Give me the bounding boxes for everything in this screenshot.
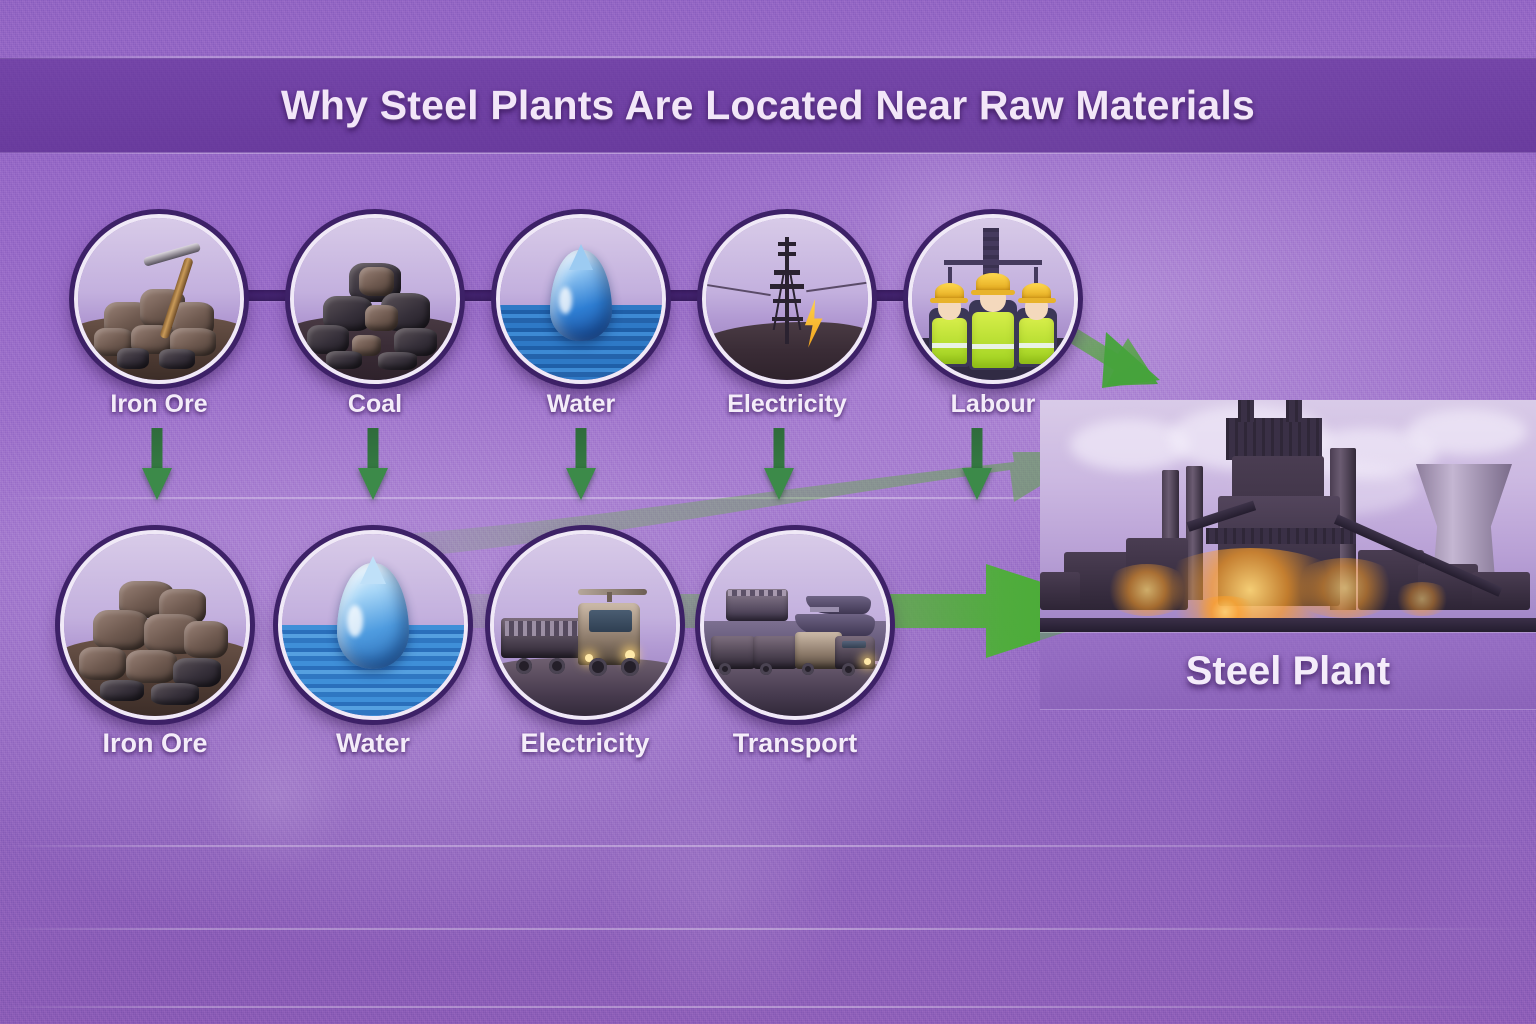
- node-label: Labour: [951, 390, 1036, 419]
- steel-plant-label-band: Steel Plant: [1040, 632, 1536, 710]
- down-arrow-labour: [962, 428, 992, 500]
- node-water-top[interactable]: Water: [496, 214, 666, 384]
- node-iron-ore-top[interactable]: Iron Ore: [74, 214, 244, 384]
- title-banner: Why Steel Plants Are Located Near Raw Ma…: [0, 58, 1536, 153]
- node-label: Water: [547, 390, 616, 419]
- node-label: Water: [336, 728, 410, 759]
- node-label: Iron Ore: [110, 390, 207, 419]
- destination-label: Steel Plant: [1186, 649, 1391, 694]
- node-electricity-top[interactable]: Electricity: [702, 214, 872, 384]
- rock-pile-icon: [60, 530, 250, 720]
- node-transport-bottom[interactable]: Transport: [700, 530, 890, 720]
- node-labour-top[interactable]: Labour: [908, 214, 1078, 384]
- infographic-canvas: Why Steel Plants Are Located Near Raw Ma…: [0, 0, 1536, 1024]
- rocks-with-pickaxe-icon: [74, 214, 244, 384]
- steel-factory-icon: [1040, 400, 1536, 632]
- water-drop-icon: [278, 530, 468, 720]
- node-coal-top[interactable]: Coal: [290, 214, 460, 384]
- down-arrow-water: [566, 428, 596, 500]
- workers-hardhats-icon: [908, 214, 1078, 384]
- power-pylon-lightning-icon: [702, 214, 872, 384]
- node-electricity-bottom[interactable]: Electricity: [490, 530, 680, 720]
- node-label: Electricity: [520, 728, 649, 759]
- node-label: Iron Ore: [102, 728, 207, 759]
- node-label: Electricity: [727, 390, 847, 419]
- freight-truck-icon: [490, 530, 680, 720]
- node-label: Transport: [733, 728, 858, 759]
- down-arrow-electricity: [764, 428, 794, 500]
- coal-heap-icon: [290, 214, 460, 384]
- water-drop-icon: [496, 214, 666, 384]
- down-arrow-iron-ore: [142, 428, 172, 500]
- down-arrow-coal: [358, 428, 388, 500]
- node-iron-ore-bottom[interactable]: Iron Ore: [60, 530, 250, 720]
- steel-plant-panel[interactable]: Steel Plant: [1040, 400, 1536, 710]
- node-label: Coal: [348, 390, 402, 419]
- node-water-bottom[interactable]: Water: [278, 530, 468, 720]
- page-title: Why Steel Plants Are Located Near Raw Ma…: [281, 82, 1255, 129]
- train-truck-ship-icon: [700, 530, 890, 720]
